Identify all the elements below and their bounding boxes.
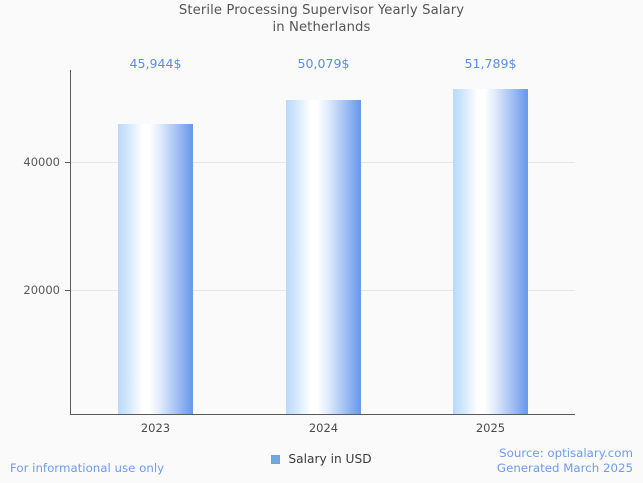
- chart-title-line-2: in Netherlands: [272, 20, 370, 35]
- footer-disclaimer: For informational use only: [10, 461, 164, 475]
- tick-40000: [65, 162, 70, 163]
- x-axis-label-2025: 2025: [450, 422, 531, 435]
- plot-area: 40000 20000 45,944$ 50,079$ 51,789$ 2023…: [70, 70, 575, 415]
- tick-20000: [65, 290, 70, 291]
- salary-bar-chart: Sterile Processing Supervisor Yearly Sal…: [0, 0, 643, 483]
- bar-2024[interactable]: [286, 100, 361, 414]
- y-axis-label-20000: 20000: [0, 284, 60, 296]
- footer-generated-date: Generated March 2025: [497, 461, 633, 476]
- y-axis-label-40000: 40000: [0, 156, 60, 168]
- legend-label-salary-in-usd: Salary in USD: [288, 452, 371, 466]
- bar-2025[interactable]: [453, 89, 528, 414]
- y-axis-line: [70, 70, 71, 415]
- x-axis-label-2023: 2023: [115, 422, 196, 435]
- chart-title: Sterile Processing Supervisor Yearly Sal…: [0, 3, 643, 36]
- x-axis-label-2024: 2024: [283, 422, 364, 435]
- bar-value-2023: 45,944$: [108, 57, 203, 71]
- bar-value-2024: 50,079$: [276, 57, 371, 71]
- bar-value-2025: 51,789$: [443, 57, 538, 71]
- footer-source: Source: optisalary.com: [497, 446, 633, 461]
- bar-2023[interactable]: [118, 124, 193, 414]
- chart-title-line-1: Sterile Processing Supervisor Yearly Sal…: [179, 3, 464, 18]
- footer-source-block: Source: optisalary.com Generated March 2…: [497, 446, 633, 476]
- x-axis-line: [70, 414, 575, 415]
- legend-swatch-icon: [271, 455, 280, 464]
